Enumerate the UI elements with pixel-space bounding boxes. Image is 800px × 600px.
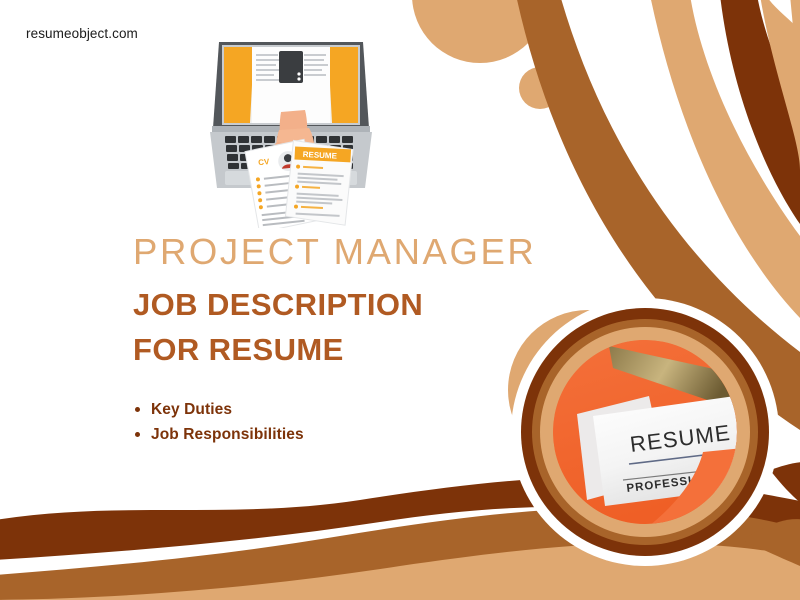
list-item-label: Key Duties [151, 401, 232, 418]
cv-label: CV [258, 157, 271, 167]
page-title-bold: JOB DESCRIPTION FOR RESUME [133, 283, 563, 373]
document-resume: RESUME [285, 140, 353, 225]
bullet-dot-icon [135, 407, 140, 412]
screen-panel-right [328, 47, 358, 123]
screen-block-dot-2 [297, 77, 300, 80]
resume-photo-svg: RESUME PROFESSIO [553, 340, 737, 524]
laptop-illustration: CV RESUME [205, 38, 377, 228]
bullet-list: Key Duties Job Responsibilities [133, 397, 563, 447]
screen-panel-left [224, 47, 254, 123]
list-item-label: Job Responsibilities [151, 426, 304, 443]
page-title-bold-line-2: FOR RESUME [133, 328, 563, 373]
laptop-illustration-svg: CV RESUME [205, 38, 377, 228]
headline-block: PROJECT MANAGER JOB DESCRIPTION FOR RESU… [133, 232, 563, 448]
bullet-dot-icon [135, 432, 140, 437]
list-item: Key Duties [151, 397, 563, 422]
photo-inner: RESUME PROFESSIO [553, 340, 737, 524]
screen-block-dot-1 [297, 72, 300, 75]
poster-canvas: resumeobject.com [0, 0, 800, 600]
resume-label: RESUME [302, 150, 337, 161]
page-title-bold-line-1: JOB DESCRIPTION [133, 283, 563, 328]
site-url-label: resumeobject.com [26, 26, 138, 41]
page-title-thin: PROJECT MANAGER [133, 232, 563, 271]
list-item: Job Responsibilities [151, 422, 563, 447]
